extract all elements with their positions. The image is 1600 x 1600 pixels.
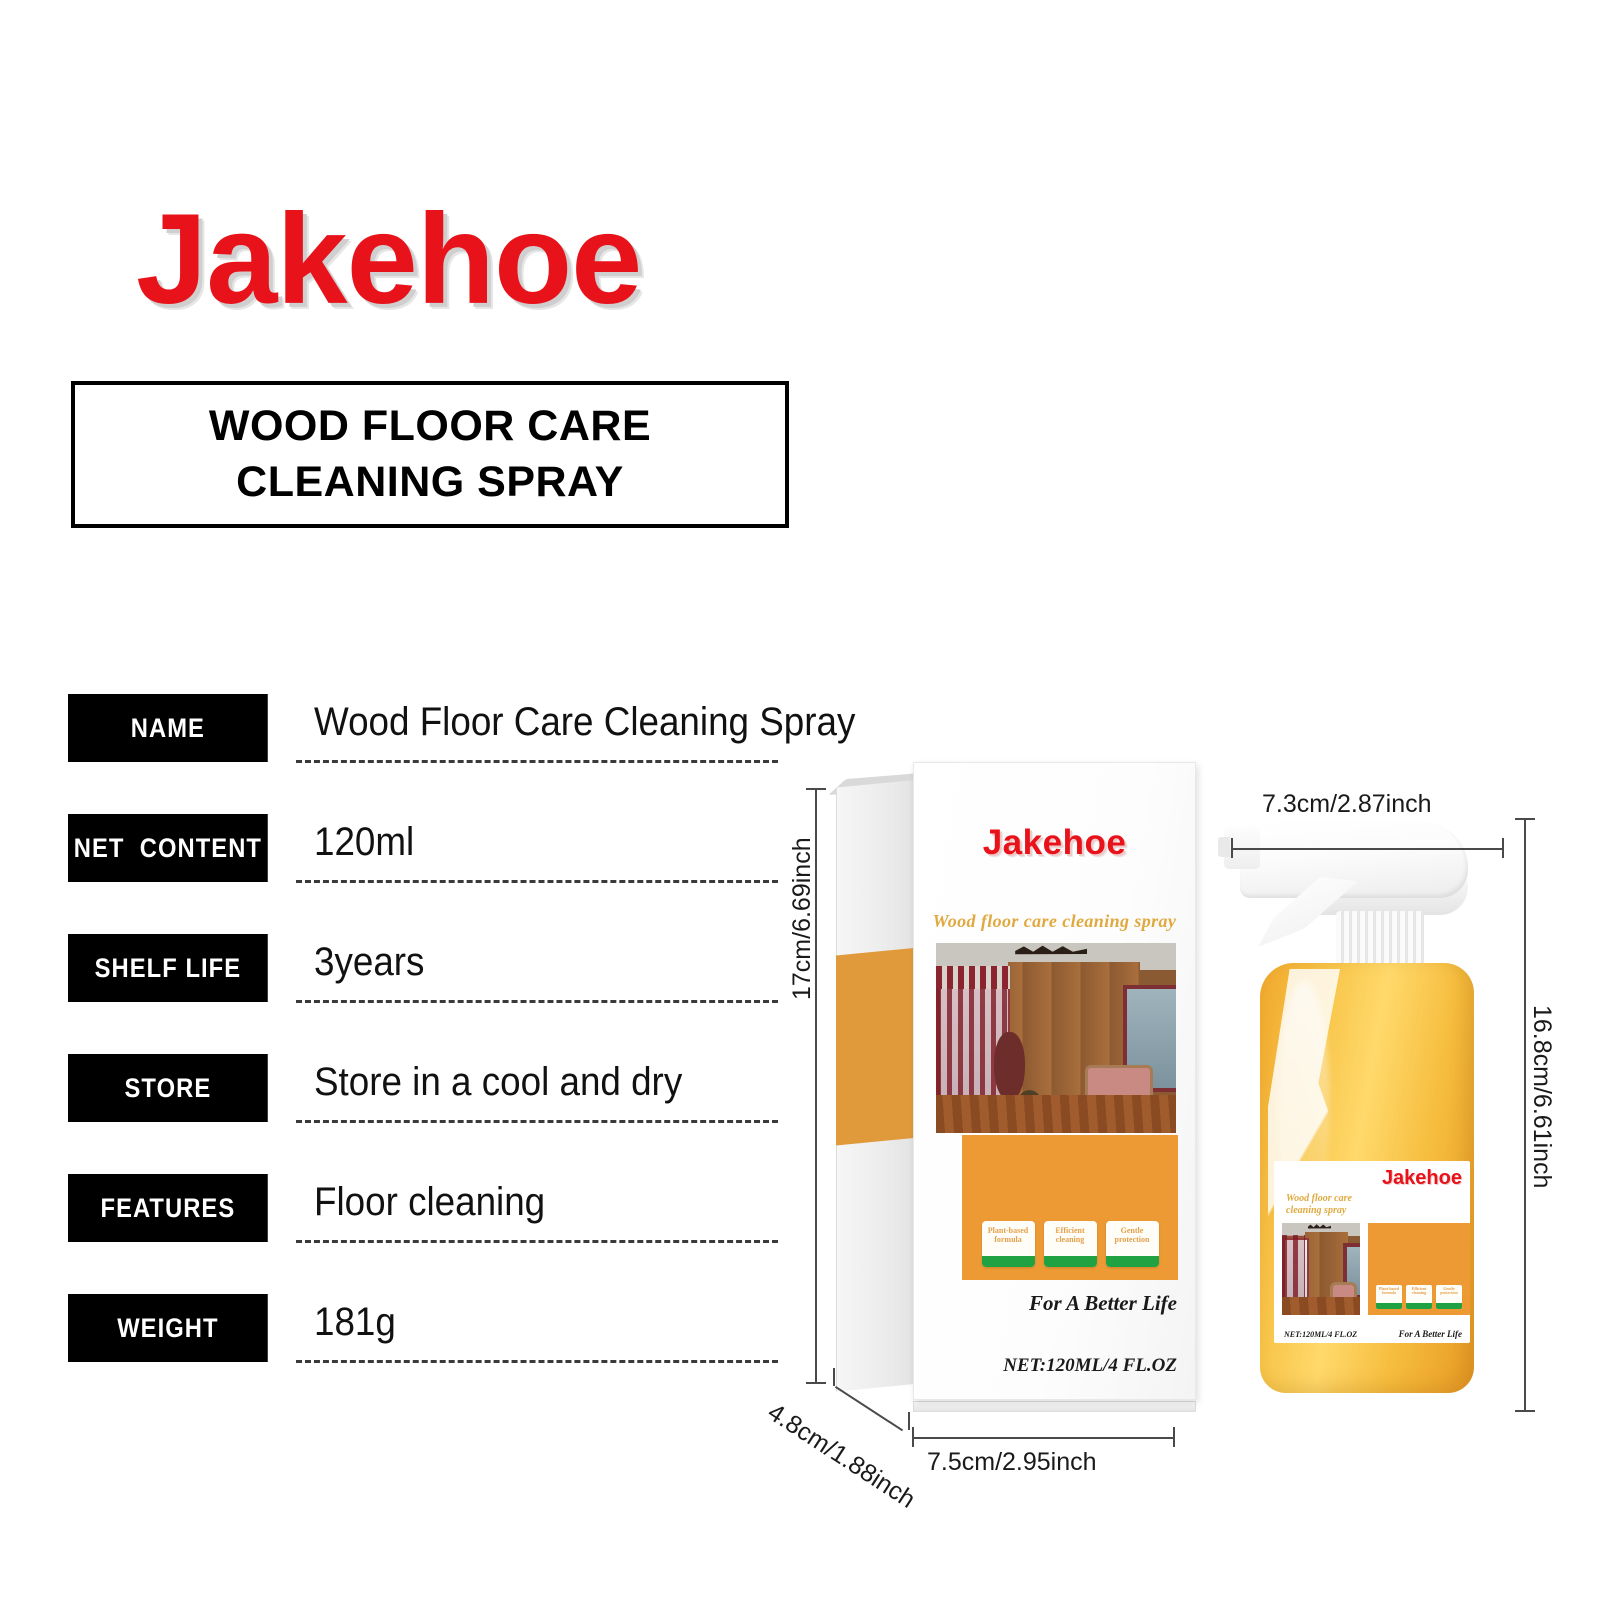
feature-chip-bar — [982, 1256, 1035, 1267]
box-width-cap-left — [912, 1427, 914, 1447]
box-depth-label: 4.8cm/1.88inch — [762, 1398, 920, 1515]
product-title-line-2: CLEANING SPRAY — [209, 455, 651, 510]
bottle-height-cap-top — [1515, 818, 1535, 820]
feature-chip-text: Efficient cleaning — [1412, 1287, 1427, 1296]
feature-chip-line-2: formula — [1379, 1291, 1399, 1295]
bottle-net-content: NET:120ML/4 FL.OZ — [1284, 1330, 1357, 1339]
spec-divider — [296, 1240, 778, 1243]
table-row: FEATURES Floor cleaning — [68, 1170, 780, 1290]
package-front-face: Jakehoe Wood floor care cleaning spray — [913, 762, 1196, 1400]
bottle-slogan: For A Better Life — [1399, 1329, 1462, 1339]
package-bottom-edge — [913, 1401, 1196, 1412]
feature-chip: Efficient cleaning — [1406, 1285, 1432, 1309]
bottle-width-label: 7.3cm/2.87inch — [1262, 790, 1432, 819]
spec-divider — [296, 880, 778, 883]
package-feature-panel: Plant-based formula Efficient cleaning G… — [962, 1135, 1178, 1280]
feature-chip-bar — [1436, 1303, 1462, 1309]
product-package-box: Jakehoe Wood floor care cleaning spray — [836, 762, 1196, 1402]
feature-chip-bar — [1106, 1256, 1159, 1267]
box-depth-cap-right — [908, 1412, 910, 1430]
spray-bottle: Jakehoe Wood floor care cleaning spray — [1218, 815, 1490, 1415]
spec-label-shelf-life: SHELF LIFE — [68, 934, 268, 1002]
room-scene — [936, 943, 1176, 1133]
feature-chip-text: Gentle protection — [1440, 1287, 1457, 1296]
spec-value-net-content: 120ml — [314, 806, 414, 878]
specification-table: NAME Wood Floor Care Cleaning Spray NET … — [68, 690, 780, 1410]
sprayer-head — [1240, 822, 1468, 898]
bottle-height-dimension-line — [1524, 818, 1526, 1412]
package-feature-chips: Plant-based formula Efficient cleaning G… — [962, 1221, 1178, 1267]
product-title-line-1: WOOD FLOOR CARE — [209, 399, 651, 454]
package-room-photo — [936, 943, 1176, 1133]
feature-chip: Plant-based formula — [1376, 1285, 1402, 1309]
bottle-subtitle: Wood floor care cleaning spray — [1286, 1193, 1381, 1216]
feature-chip: Gentle protection — [1436, 1285, 1462, 1309]
spec-value-weight: 181g — [314, 1286, 396, 1358]
bottle-room-photo — [1282, 1223, 1360, 1315]
feature-chip-line-2: formula — [988, 1235, 1028, 1244]
bottle-label: Jakehoe Wood floor care cleaning spray — [1274, 1161, 1470, 1343]
feature-chip-line-1: Plant-based — [988, 1226, 1028, 1235]
bottle-body: Jakehoe Wood floor care cleaning spray — [1260, 963, 1474, 1393]
spec-divider — [296, 1000, 778, 1003]
spec-value-features: Floor cleaning — [314, 1166, 545, 1238]
bottle-width-dimension-line — [1232, 848, 1504, 850]
feature-chip-bar — [1406, 1303, 1432, 1309]
bottle-height-cap-bottom — [1515, 1410, 1535, 1412]
feature-chip-text: Plant-based formula — [1379, 1287, 1399, 1296]
table-row: STORE Store in a cool and dry — [68, 1050, 780, 1170]
package-slogan: For A Better Life — [914, 1291, 1177, 1316]
feature-chip-line-1: Efficient — [1055, 1226, 1084, 1235]
box-depth-cap-left — [833, 1368, 835, 1386]
table-row: NAME Wood Floor Care Cleaning Spray — [68, 690, 780, 810]
bottle-height-label: 16.8cm/6.61inch — [1527, 1005, 1556, 1188]
bottle-feature-chips: Plant-based formula Efficient cleaning — [1368, 1285, 1470, 1309]
feature-chip-line-2: protection — [1115, 1235, 1150, 1244]
room-pelmet — [936, 966, 1010, 989]
spec-divider — [296, 1360, 778, 1363]
bottle-brand-logo: Jakehoe — [1382, 1167, 1462, 1190]
feature-chip-line-1: Gentle — [1115, 1226, 1150, 1235]
spec-label-net-content: NET CONTENT — [68, 814, 268, 882]
feature-chip-line-2: cleaning — [1412, 1291, 1427, 1295]
feature-chip-text: Gentle protection — [1115, 1226, 1150, 1244]
box-height-cap-bottom — [806, 1382, 826, 1384]
spec-divider — [296, 1120, 778, 1123]
bottle-collar — [1336, 911, 1424, 971]
feature-chip: Plant-based formula — [982, 1221, 1035, 1267]
spec-value-store: Store in a cool and dry — [314, 1046, 682, 1118]
package-subtitle: Wood floor care cleaning spray — [914, 911, 1195, 932]
wood-floor — [936, 1095, 1176, 1133]
feature-chip-text: Efficient cleaning — [1055, 1226, 1084, 1244]
feature-chip-bar — [1044, 1256, 1097, 1267]
spec-label-store: STORE — [68, 1054, 268, 1122]
spec-divider — [296, 760, 778, 763]
box-height-cap-top — [806, 788, 826, 790]
feature-chip-bar — [1376, 1303, 1402, 1309]
table-row: NET CONTENT 120ml — [68, 810, 780, 930]
box-width-cap-right — [1173, 1427, 1175, 1447]
feature-chip-line-2: protection — [1440, 1291, 1457, 1295]
bottle-feature-panel: Plant-based formula Efficient cleaning — [1368, 1223, 1470, 1315]
spec-label-name: NAME — [68, 694, 268, 762]
box-height-label: 17cm/6.69inch — [788, 837, 817, 1000]
spec-label-features: FEATURES — [68, 1174, 268, 1242]
product-title: WOOD FLOOR CARE CLEANING SPRAY — [209, 399, 651, 509]
box-width-dimension-line — [913, 1437, 1175, 1439]
package-net-content: NET:120ML/4 FL.OZ — [914, 1355, 1177, 1377]
spec-value-name: Wood Floor Care Cleaning Spray — [314, 686, 855, 758]
box-width-label: 7.5cm/2.95inch — [927, 1448, 1097, 1477]
sprayer-nozzle-icon — [1218, 837, 1230, 857]
table-row: WEIGHT 181g — [68, 1290, 780, 1410]
table-row: SHELF LIFE 3years — [68, 930, 780, 1050]
spec-value-shelf-life: 3years — [314, 926, 424, 998]
package-brand-logo: Jakehoe — [914, 823, 1195, 863]
feature-chip: Gentle protection — [1106, 1221, 1159, 1267]
bottle-width-cap-right — [1502, 838, 1504, 858]
spec-label-weight: WEIGHT — [68, 1294, 268, 1362]
product-title-box: WOOD FLOOR CARE CLEANING SPRAY — [71, 381, 789, 528]
feature-chip-text: Plant-based formula — [988, 1226, 1028, 1244]
bottle-width-cap-left — [1231, 838, 1233, 858]
room-curtain — [1282, 1235, 1305, 1303]
room-scene — [1282, 1223, 1360, 1315]
package-side-orange-band — [836, 948, 914, 1146]
wood-floor — [1282, 1297, 1360, 1315]
brand-logo: Jakehoe — [136, 196, 641, 324]
feature-chip: Efficient cleaning — [1044, 1221, 1097, 1267]
feature-chip-line-2: cleaning — [1055, 1235, 1084, 1244]
